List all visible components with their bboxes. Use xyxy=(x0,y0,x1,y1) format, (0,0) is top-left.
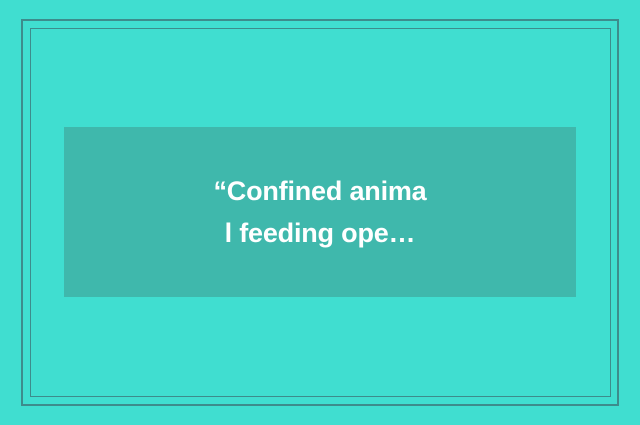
quote-card: “Confined anima l feeding ope… xyxy=(0,0,640,425)
quote-line-1: “Confined anima xyxy=(213,170,426,212)
quote-line-2: l feeding ope… xyxy=(225,212,416,254)
quote-text-band: “Confined anima l feeding ope… xyxy=(64,127,576,297)
